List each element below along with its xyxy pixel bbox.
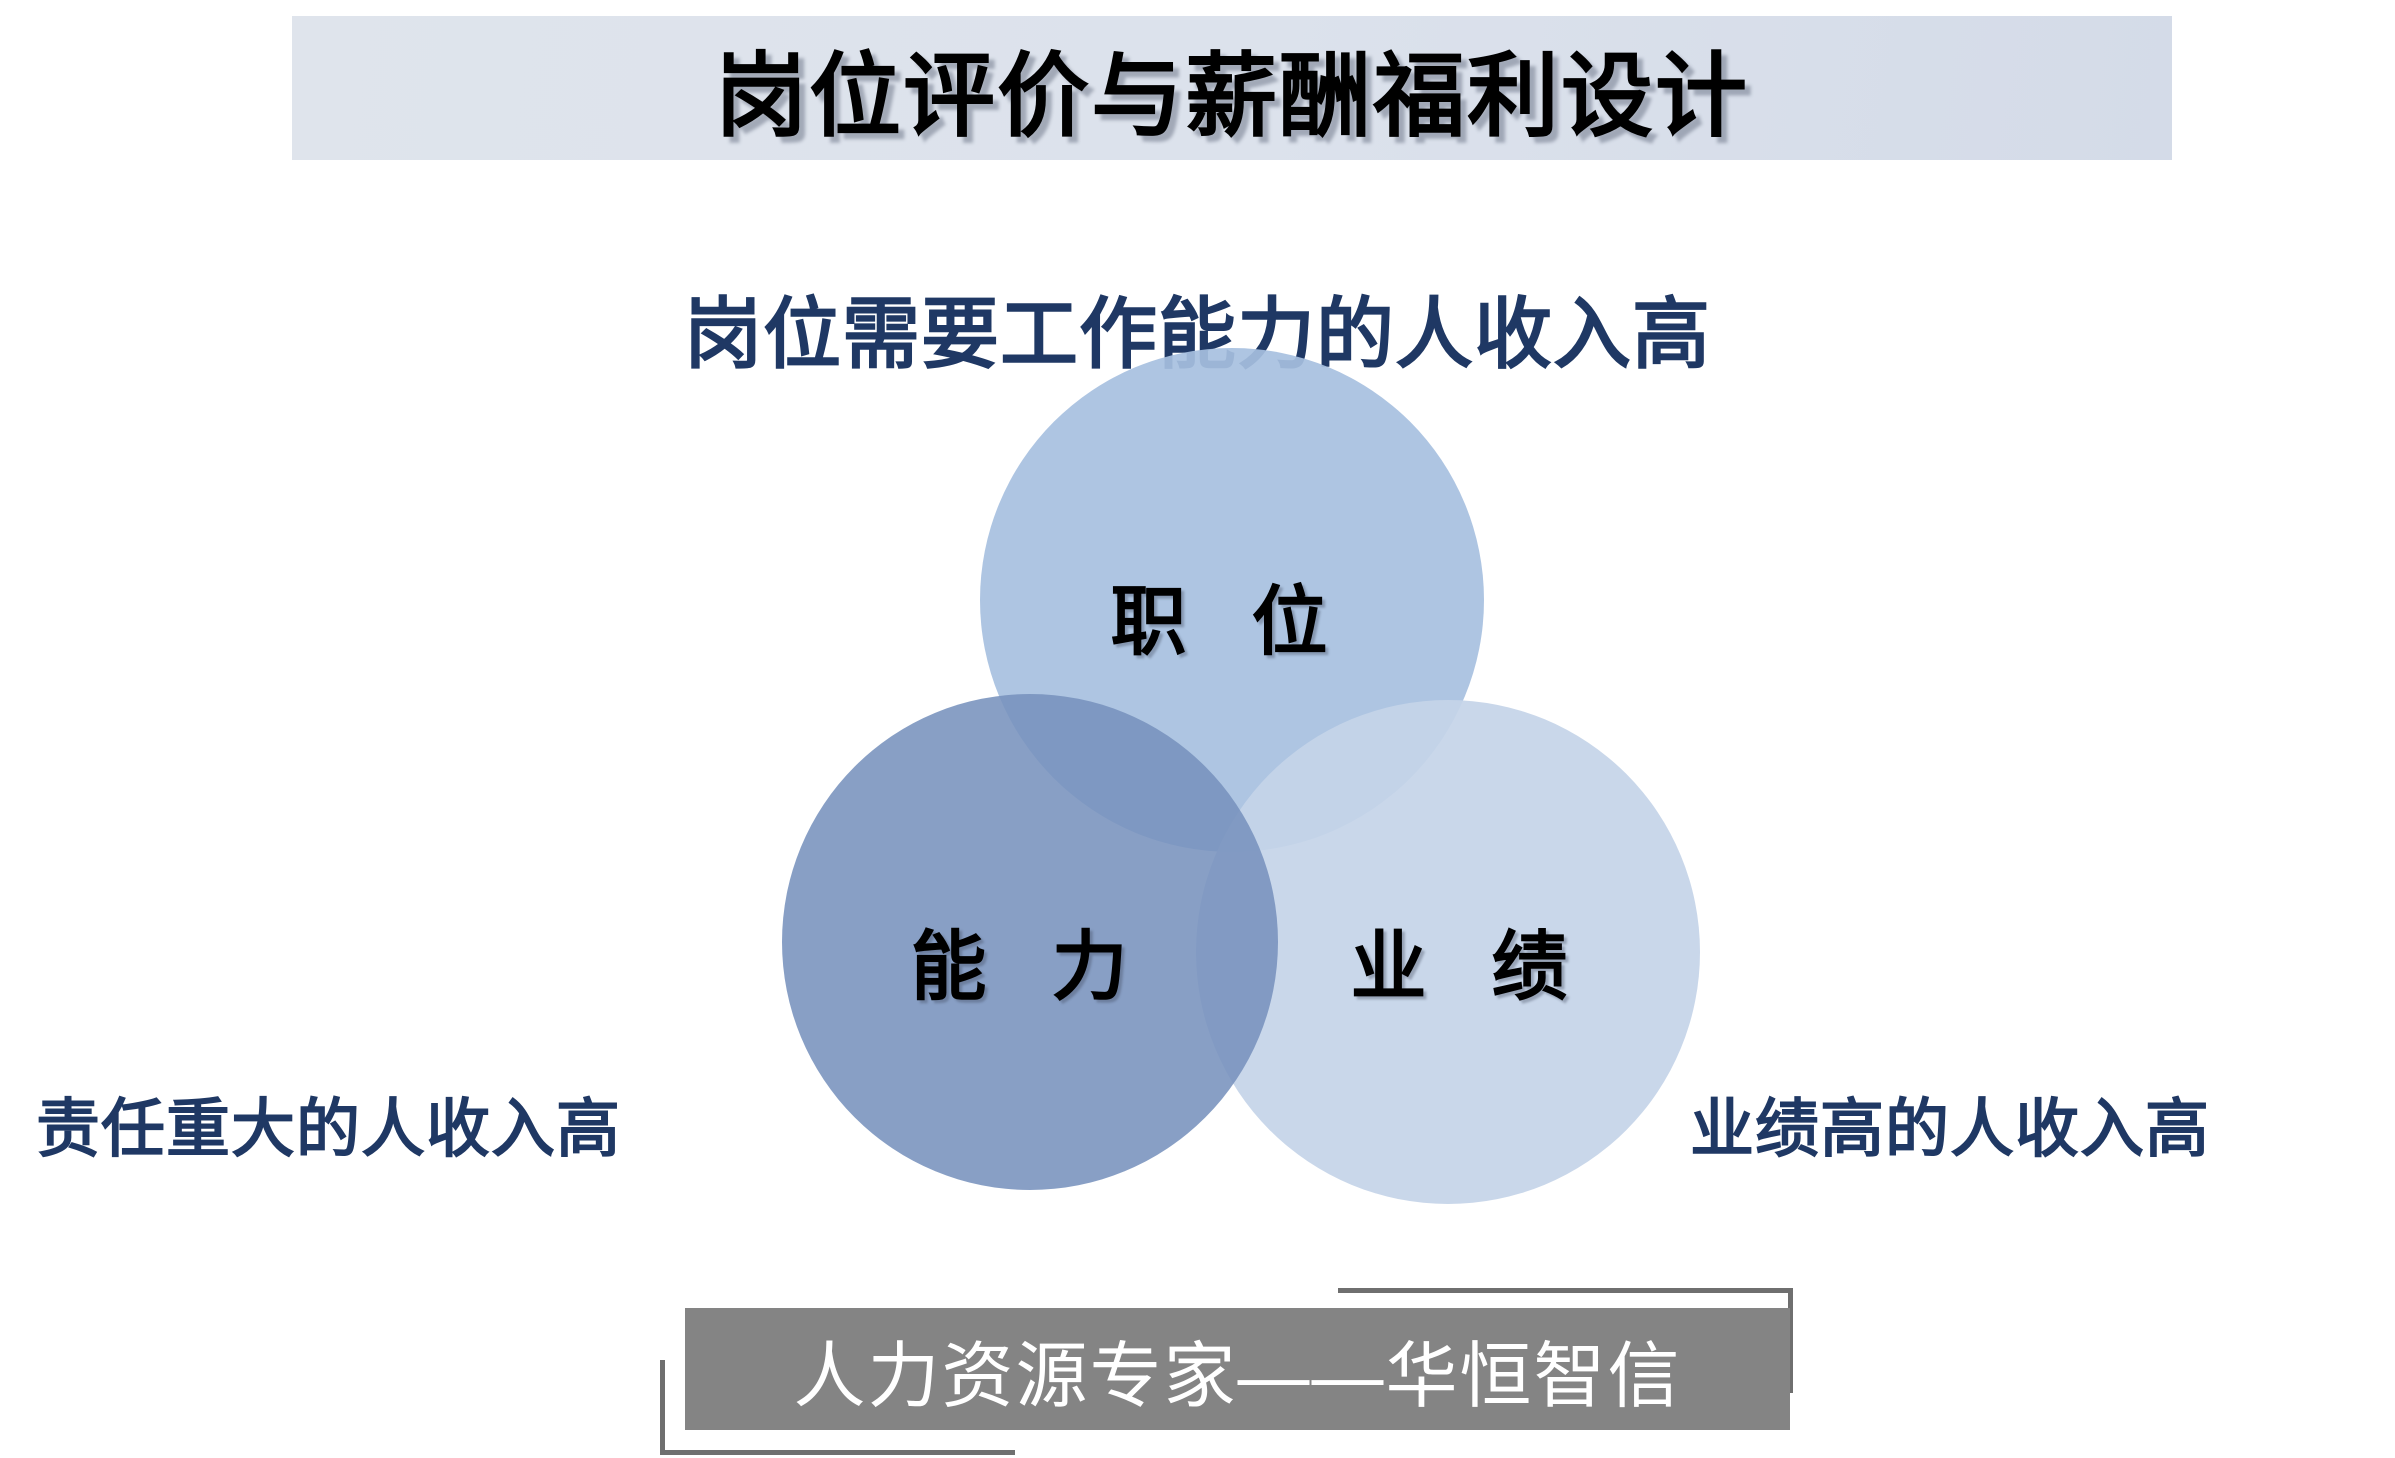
subtitle-top-caption: 岗位需要工作能力的人收入高 <box>0 272 2395 384</box>
venn-diagram <box>0 0 2395 1458</box>
venn-label-performance: 业 绩 <box>1240 905 1700 1015</box>
caption-right: 业绩高的人收入高 <box>1690 1078 2210 1170</box>
footer-brand-text: 人力资源专家——华恒智信 <box>685 1308 1790 1430</box>
footer-badge: 人力资源专家——华恒智信 <box>660 1288 1820 1453</box>
page-title: 岗位评价与薪酬福利设计 <box>292 16 2172 160</box>
caption-left: 责任重大的人收入高 <box>36 1078 621 1170</box>
venn-label-position: 职 位 <box>1000 560 1460 670</box>
slide-canvas: 岗位评价与薪酬福利设计 岗位需要工作能力的人收入高 职 位 能 力 业 绩 责任… <box>0 0 2395 1458</box>
venn-label-ability: 能 力 <box>800 905 1260 1015</box>
